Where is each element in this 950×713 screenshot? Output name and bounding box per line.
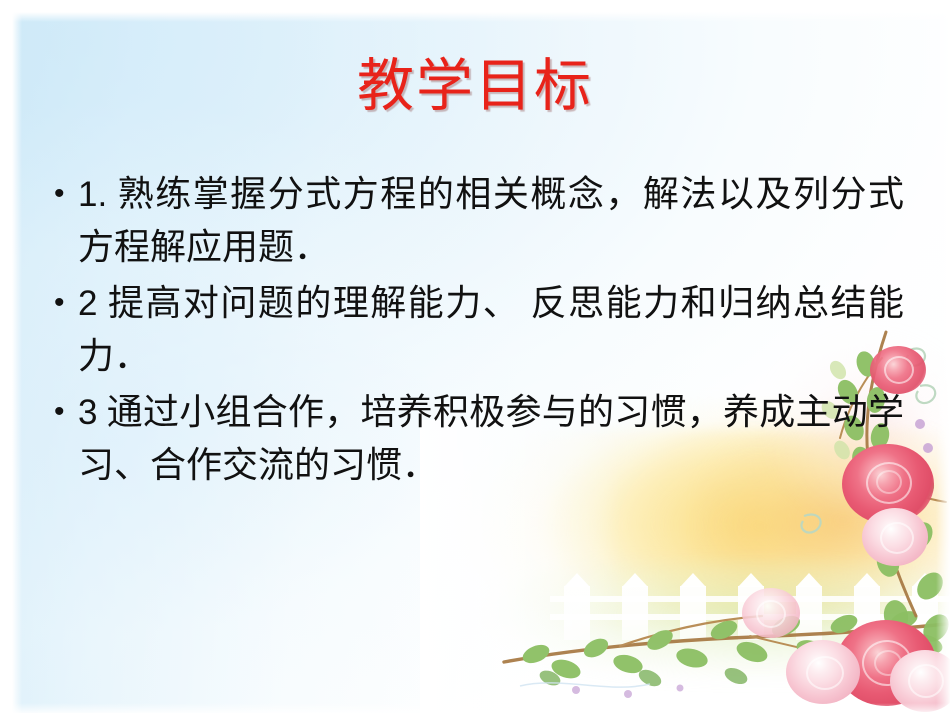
bullet-number-1: 1. (78, 175, 107, 214)
margin-top (0, 0, 950, 22)
bullet-body-1: 熟练掌握分式方程的相关概念，解法以及列分式方程解应用题． (78, 174, 904, 267)
bullet-number-2: 2 (78, 284, 97, 323)
bullet-text-1: 1. 熟练掌握分式方程的相关概念，解法以及列分式方程解应用题． (78, 168, 904, 273)
rose-pink-bottom-left-swirl (806, 656, 844, 690)
list-item: • 3 通过小组合作，培养积极参与的习惯，养成主动学习、合作交流的习惯． (44, 386, 904, 491)
slide-canvas: 教学目标 • 1. 熟练掌握分式方程的相关概念，解法以及列分式方程解应用题． •… (0, 0, 950, 713)
bullet-number-3: 3 (78, 393, 97, 432)
bullet-list: • 1. 熟练掌握分式方程的相关概念，解法以及列分式方程解应用题． • 2 提高… (44, 168, 904, 495)
bullet-text-3: 3 通过小组合作，培养积极参与的习惯，养成主动学习、合作交流的习惯． (78, 386, 904, 491)
bullet-body-2: 提高对问题的理解能力、 反思能力和归纳总结能力． (78, 283, 904, 376)
bullet-text-2: 2 提高对问题的理解能力、 反思能力和归纳总结能力． (78, 277, 904, 382)
bullet-marker-icon: • (44, 168, 78, 220)
list-item: • 1. 熟练掌握分式方程的相关概念，解法以及列分式方程解应用题． (44, 168, 904, 273)
rose-pink-fence-swirl (756, 600, 786, 628)
margin-bottom (0, 703, 950, 713)
list-item: • 2 提高对问题的理解能力、 反思能力和归纳总结能力． (44, 277, 904, 382)
rose-pink-upper-swirl (880, 522, 914, 554)
bullet-marker-icon: • (44, 386, 78, 438)
bullet-body-3: 通过小组合作，培养积极参与的习惯，养成主动学习、合作交流的习惯． (78, 392, 904, 485)
bullet-marker-icon: • (44, 277, 78, 329)
slide-title: 教学目标 (0, 56, 950, 118)
